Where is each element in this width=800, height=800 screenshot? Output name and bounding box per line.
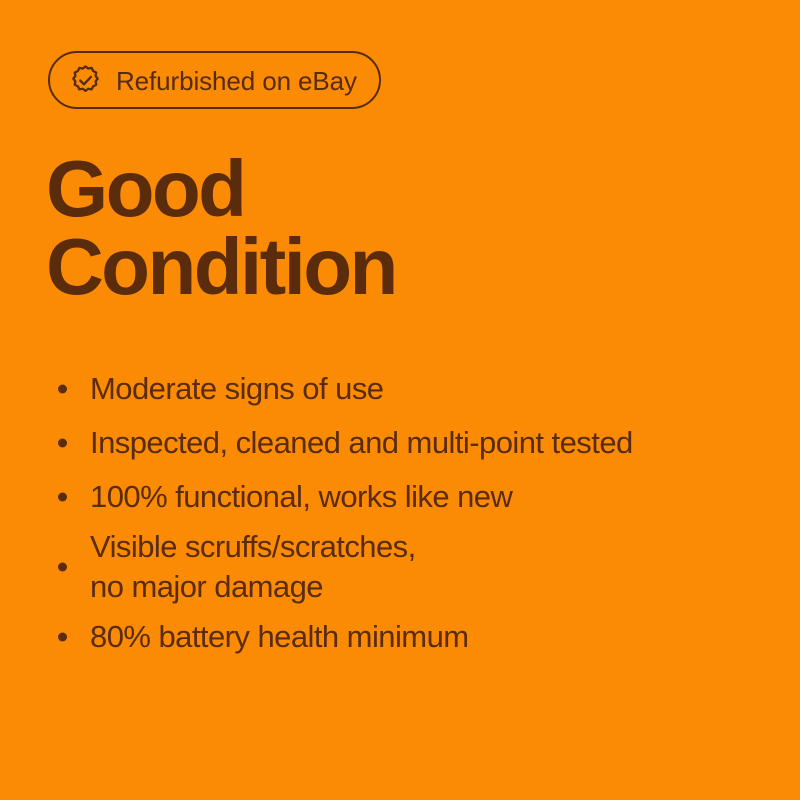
page-title-line-2: Condition: [46, 228, 746, 306]
list-item-label: 100% functional, works like new: [90, 477, 512, 517]
verified-rosette-check-icon: [69, 64, 102, 97]
page-title: Good Condition: [46, 150, 746, 306]
refurbished-badge: Refurbished on eBay: [48, 51, 381, 109]
list-item-label: Inspected, cleaned and multi-point teste…: [90, 423, 633, 463]
list-item: Moderate signs of use: [50, 362, 762, 416]
condition-feature-list: Moderate signs of use Inspected, cleaned…: [50, 362, 762, 664]
bullet-icon: [58, 385, 67, 394]
list-item: Visible scruffs/scratches, no major dama…: [50, 524, 762, 610]
list-item: 100% functional, works like new: [50, 470, 762, 524]
list-item-label: 80% battery health minimum: [90, 617, 469, 657]
list-item-label: Visible scruffs/scratches, no major dama…: [90, 527, 416, 607]
bullet-icon: [58, 633, 67, 642]
bullet-icon: [58, 439, 67, 448]
refurbished-condition-card: Refurbished on eBay Good Condition Moder…: [0, 0, 800, 800]
list-item: 80% battery health minimum: [50, 610, 762, 664]
list-item-label: Moderate signs of use: [90, 369, 383, 409]
page-title-line-1: Good: [46, 150, 746, 228]
badge-label: Refurbished on eBay: [116, 68, 357, 94]
list-item: Inspected, cleaned and multi-point teste…: [50, 416, 762, 470]
bullet-icon: [58, 493, 67, 502]
bullet-icon: [58, 563, 67, 572]
